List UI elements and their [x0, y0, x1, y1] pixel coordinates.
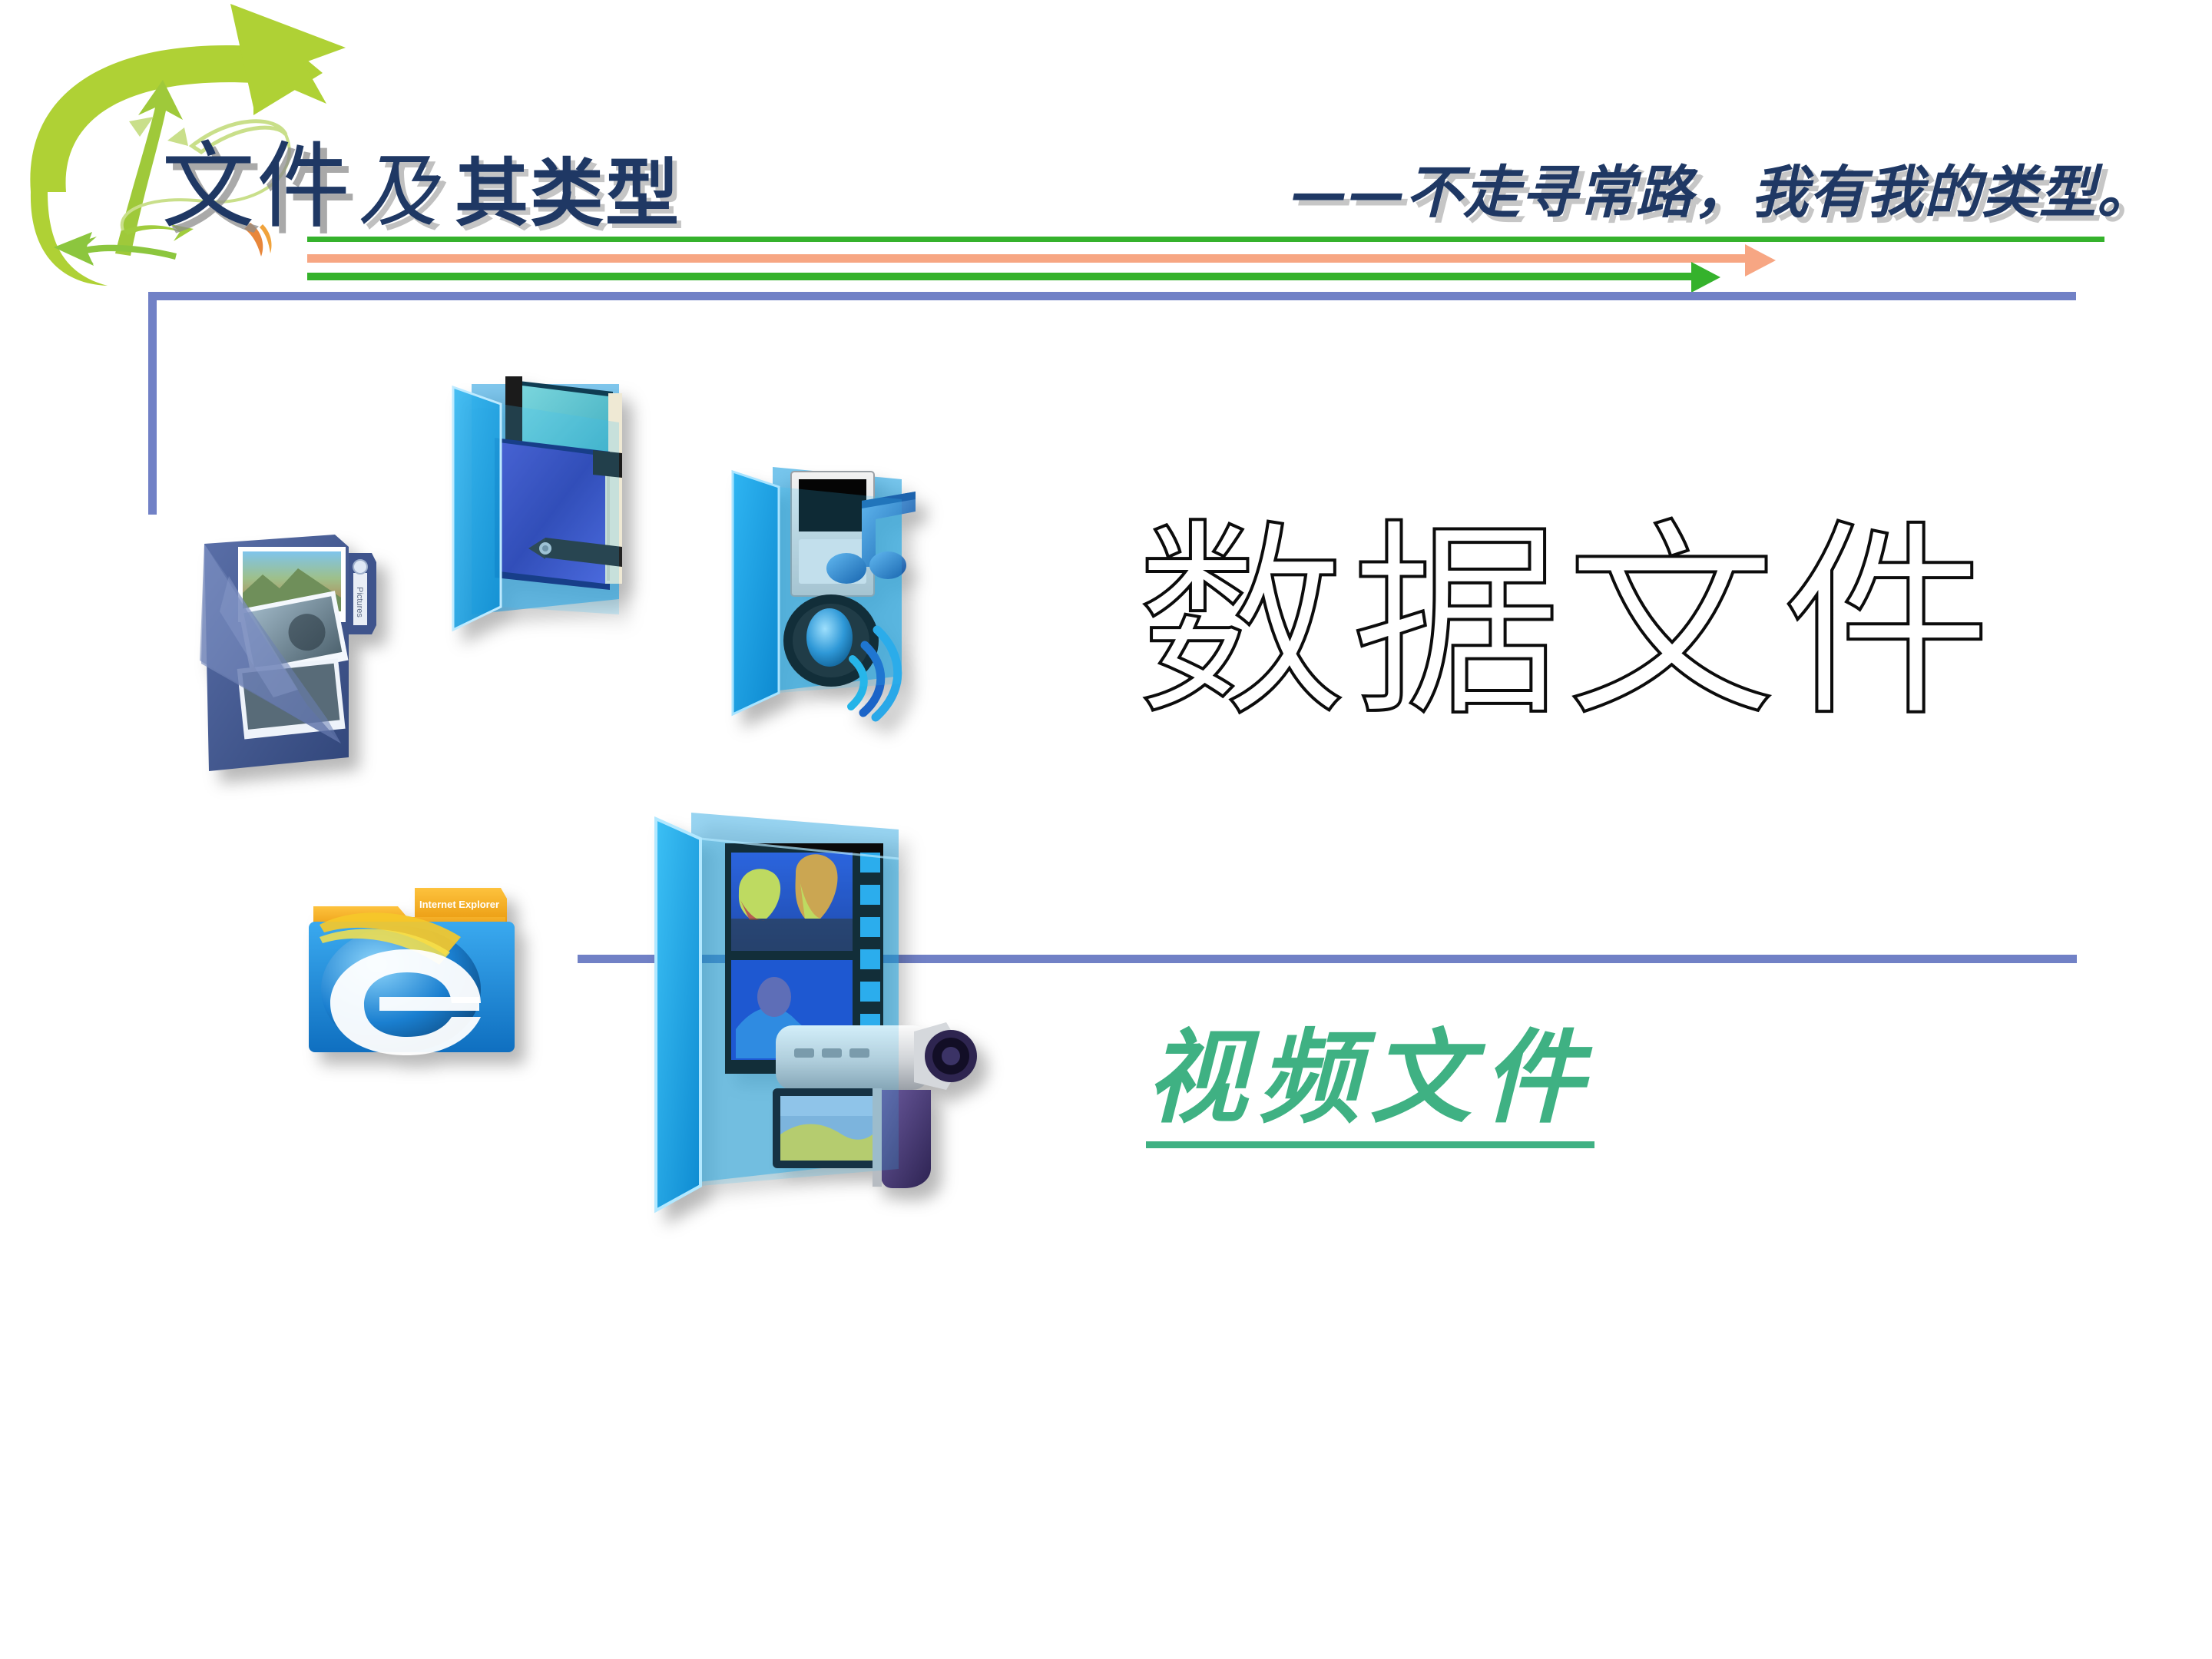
video-folder-icon[interactable]: [645, 799, 991, 1244]
title-part-one: 文件: [161, 140, 352, 233]
documents-books-folder-icon[interactable]: [430, 361, 661, 653]
pictures-folder-icon[interactable]: Pictures: [183, 513, 398, 797]
label-video-files: 视频文件: [1146, 1028, 1594, 1148]
frame-line-top: [148, 292, 2076, 300]
title-part-three: 其类型: [455, 157, 680, 231]
svg-text:Pictures: Pictures: [355, 587, 364, 618]
divider-green-arrow-line: [307, 273, 1697, 280]
music-folder-icon[interactable]: [714, 453, 960, 737]
presentation-slide: 文件 及 其类型 ——不走寻常路，我有我的类型。 数据文件 视频文件: [0, 0, 2212, 1659]
ie-tab-label: Internet Explorer: [419, 899, 499, 910]
divider-orange-arrow-line: [307, 254, 1751, 263]
frame-line-left: [148, 292, 157, 515]
divider-green-top: [307, 237, 2104, 242]
title-part-two: 及: [358, 151, 438, 231]
heading-data-files: 数据文件: [1137, 507, 1997, 741]
orange-arrow-head-icon: [1745, 244, 1776, 276]
internet-explorer-folder-icon[interactable]: Internet Explorer: [300, 882, 530, 1074]
green-arrow-head-icon: [1691, 262, 1720, 293]
slide-subtitle: ——不走寻常路，我有我的类型。: [1290, 163, 2154, 224]
